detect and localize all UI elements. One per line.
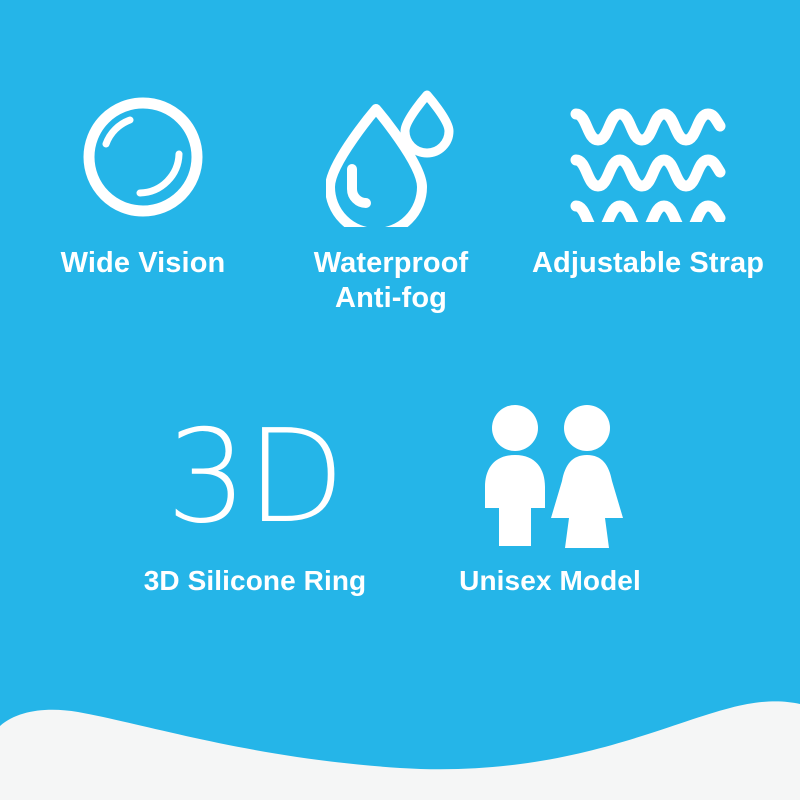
feature-adjustable-strap: Adjustable Strap [514, 82, 782, 317]
bubble-icon [78, 92, 208, 222]
feature-label-waterproof: Waterproof Anti-fog [314, 246, 469, 317]
feature-label-wide-vision: Wide Vision [61, 246, 226, 281]
feature-wide-vision: Wide Vision [18, 82, 268, 317]
3d-text-icon: 3D [166, 414, 344, 542]
feature-label-unisex-model: Unisex Model [459, 564, 641, 598]
bottom-wave-divider [0, 680, 800, 800]
feature-row-top: Wide Vision Waterproof Anti-fog [0, 82, 800, 317]
feature-unisex-model: Unisex Model [405, 408, 695, 598]
wavy-lines-icon [568, 92, 728, 222]
man-woman-icon [475, 403, 625, 553]
feature-silicone-ring: 3D 3D Silicone Ring [105, 408, 405, 598]
water-droplet-icon [326, 87, 456, 227]
wavy-lines-icon-box [568, 82, 728, 232]
water-droplet-icon-box [326, 82, 456, 232]
man-woman-icon-box [475, 408, 625, 548]
feature-label-silicone-ring: 3D Silicone Ring [144, 564, 367, 598]
feature-label-adjustable-strap: Adjustable Strap [532, 246, 764, 281]
feature-row-bottom: 3D 3D Silicone Ring Unisex Model [0, 408, 800, 598]
bubble-icon-box [78, 82, 208, 232]
product-feature-poster: Wide Vision Waterproof Anti-fog [0, 0, 800, 800]
3d-text-icon-box: 3D [166, 408, 344, 548]
feature-waterproof: Waterproof Anti-fog [275, 82, 507, 317]
